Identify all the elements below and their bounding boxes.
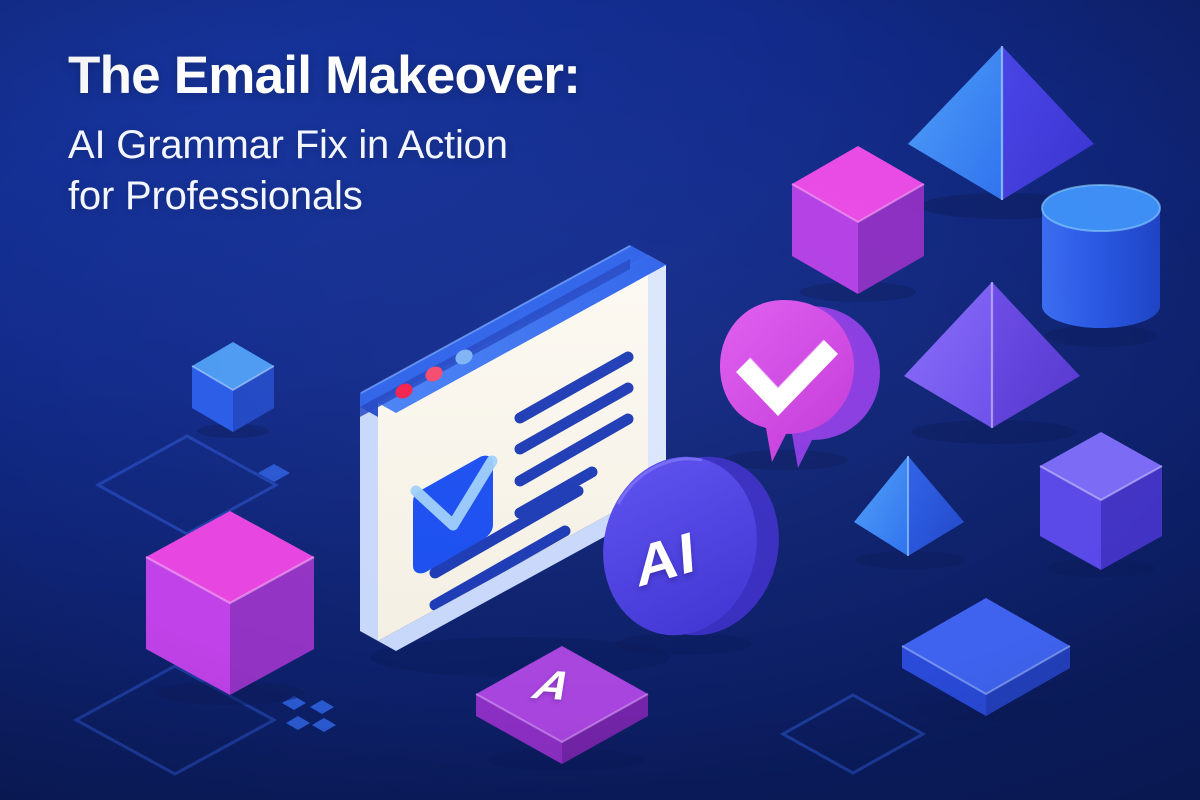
page-subtitle: AI Grammar Fix in Action for Professiona… [68, 120, 828, 221]
poster-canvas: The Email Makeover: AI Grammar Fix in Ac… [0, 0, 1200, 800]
cube-small-blue-left-shape [188, 338, 278, 438]
subtitle-line-2: for Professionals [68, 171, 828, 221]
speech-bubble-check-shape [706, 292, 876, 472]
cube-magenta-left-shape [140, 505, 320, 705]
cube-violet-right-shape [1036, 428, 1166, 578]
subtitle-line-1: AI Grammar Fix in Action [68, 120, 828, 170]
cube-blue-bottom-right-shape [898, 592, 1078, 722]
ai-badge-shape: AI [592, 448, 782, 658]
headline-block: The Email Makeover: AI Grammar Fix in Ac… [68, 48, 828, 221]
a-tile-shape: A [470, 638, 660, 773]
tiny-diamond-dot-icon [256, 462, 292, 484]
page-title: The Email Makeover: [68, 48, 828, 104]
